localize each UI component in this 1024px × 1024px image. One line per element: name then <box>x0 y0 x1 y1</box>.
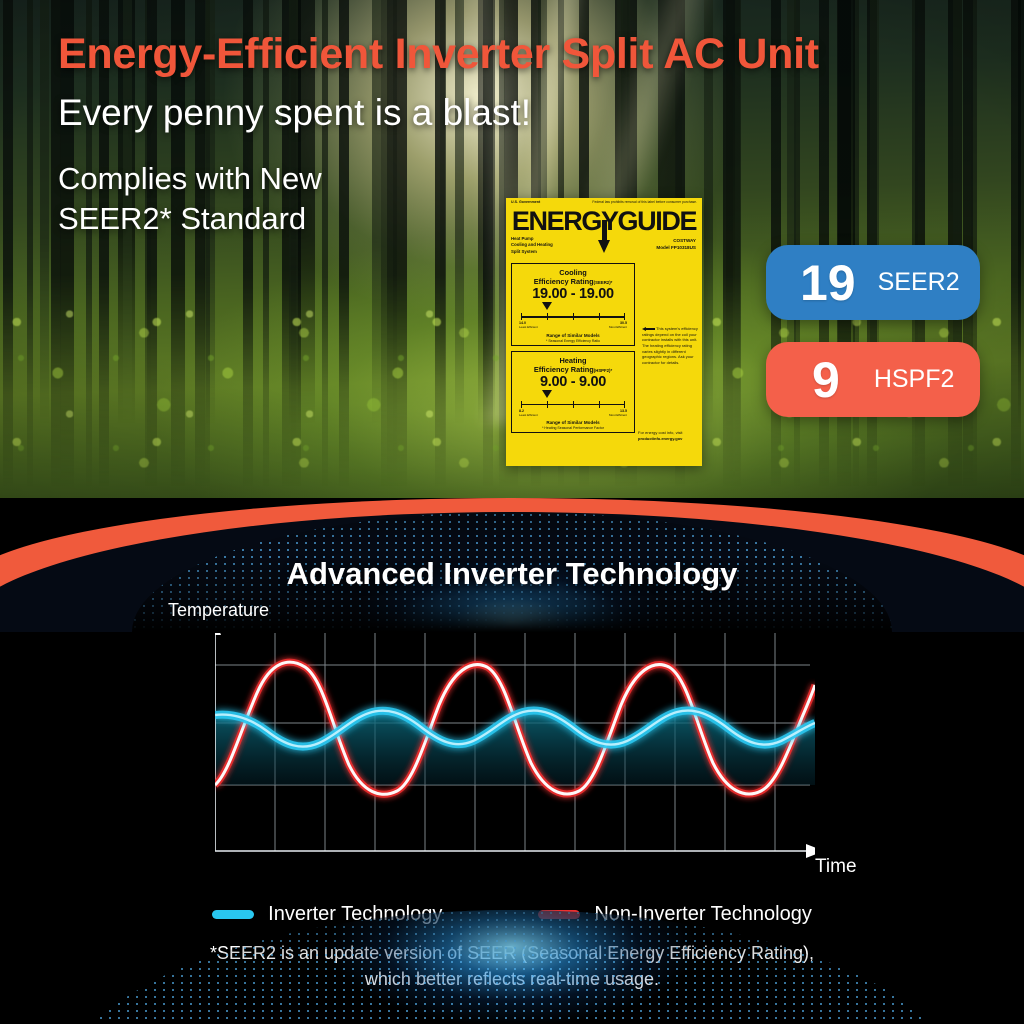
seer2-badge: 19 SEER2 <box>766 245 980 320</box>
cooling-value: 19.00 - 19.00 <box>515 286 631 302</box>
heating-caption-sup: (HSPF2)* <box>594 368 612 373</box>
energy-guide-wordmark-block: ENERGYGUIDE Heat Pump Cooling and Heatin… <box>506 205 702 263</box>
heating-scale-low-note: Least Efficient <box>519 414 538 418</box>
hspf2-badge: 9 HSPF2 <box>766 342 980 417</box>
brand-name: COSTWAY <box>656 238 696 245</box>
heating-marker-icon <box>542 390 552 398</box>
seer2-label: SEER2 <box>878 268 960 297</box>
heating-caption: Heating Efficiency Rating(HSPF2)* <box>515 356 631 375</box>
heating-range-label: Range of Similar Models <box>515 420 631 425</box>
promo-banner: Energy-Efficient Inverter Split AC Unit … <box>0 0 1024 1024</box>
cooling-scale-low-note: Least Efficient <box>519 326 538 330</box>
seer2-value: 19 <box>800 258 856 308</box>
pointer-icon <box>642 327 655 331</box>
cooling-marker-icon <box>542 302 552 310</box>
down-arrow-icon <box>598 220 610 254</box>
heating-caption-line-1: Heating <box>515 356 631 365</box>
heating-scale-high-note: Most Efficient <box>609 414 627 418</box>
model-number: Model FP10318US <box>656 245 696 252</box>
cooling-caption-line-1: Cooling <box>515 268 631 277</box>
hero-title: Energy-Efficient Inverter Split AC Unit <box>58 30 978 78</box>
hero-subtitle: Every penny spent is a blast! <box>58 92 978 135</box>
hspf2-value: 9 <box>812 355 840 405</box>
product-type-line-3: Split System <box>511 249 553 255</box>
cooling-caption: Cooling Efficiency Rating(SEER2)* <box>515 268 631 287</box>
cooling-scale-ends: 14.0 Least Efficient 30.5 Most Efficient <box>519 321 627 329</box>
heating-scale-ends: 8.2 Least Efficient 13.5 Most Efficient <box>519 409 627 417</box>
hero-compliance-line-1: Complies with New <box>58 159 978 199</box>
y-axis-arrow-icon <box>215 633 221 635</box>
energy-cost-info: For energy cost info, visit productinfo.… <box>638 430 698 442</box>
hero-section: Energy-Efficient Inverter Split AC Unit … <box>0 0 1024 530</box>
hspf2-label: HSPF2 <box>874 365 955 394</box>
heating-caption-line-2: Efficiency Rating <box>534 365 594 374</box>
brand-model-block: COSTWAY Model FP10318US <box>656 238 696 251</box>
heating-value: 9.00 - 9.00 <box>515 374 631 390</box>
heating-rating-box: Heating Efficiency Rating(HSPF2)* 9.00 -… <box>511 351 635 434</box>
dome-mesh-bottom <box>62 910 962 1024</box>
energy-guide-header-note: U.S. Government Federal law prohibits re… <box>506 198 702 205</box>
product-type-text: Heat Pump Cooling and Heating Split Syst… <box>511 236 553 255</box>
heating-footnote: * Heating Seasonal Performance Factor <box>515 426 631 430</box>
cooling-footnote: * Seasonal Energy Efficiency Ratio <box>515 339 631 343</box>
x-axis-label: Time <box>815 856 857 878</box>
cooling-scale-high-note: Most Efficient <box>609 326 627 330</box>
tech-section-title: Advanced Inverter Technology <box>0 556 1024 592</box>
cooling-caption-line-2: Efficiency Rating <box>534 277 594 286</box>
cooling-rating-box: Cooling Efficiency Rating(SEER2)* 19.00 … <box>511 263 635 346</box>
side-note-text: This system's efficiency ratings depend … <box>642 326 698 365</box>
y-axis-label: Temperature <box>168 600 269 621</box>
energy-gov-url: productinfo.energy.gov <box>638 436 698 442</box>
energy-guide-side-note: This system's efficiency ratings depend … <box>642 326 698 366</box>
cooling-scale <box>521 312 625 321</box>
cooling-range-label: Range of Similar Models <box>515 333 631 338</box>
product-type-line-2: Cooling and Heating <box>511 242 553 248</box>
heating-scale <box>521 400 625 409</box>
cooling-caption-sup: (SEER2)* <box>594 280 613 285</box>
chart-plot-area <box>215 633 815 868</box>
tech-section: Advanced Inverter Technology Temperature… <box>0 498 1024 1024</box>
x-axis-arrow-icon <box>806 844 815 858</box>
energy-guide-label: U.S. Government Federal law prohibits re… <box>506 198 702 466</box>
inverter-comparison-chart: Temperature Time <box>160 598 880 898</box>
